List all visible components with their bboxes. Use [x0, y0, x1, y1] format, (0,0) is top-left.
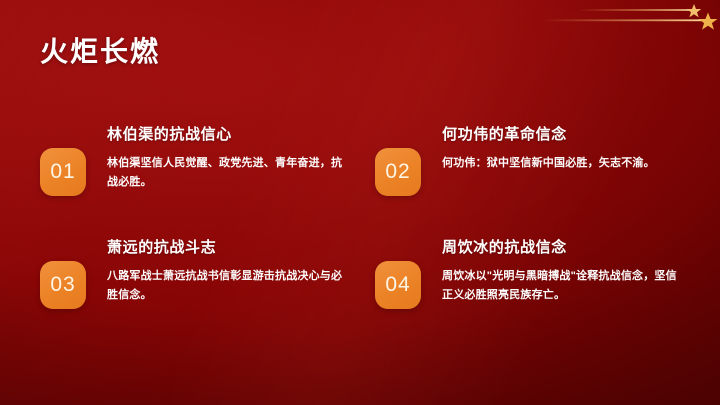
item-number-badge: 03: [40, 261, 86, 309]
item-description: 林伯渠坚信人民觉醒、政党先进、青年奋进，抗战必胜。: [107, 154, 351, 192]
item-text-block: 何功伟的革命信念 何功伟：狱中坚信新中国必胜，矢志不渝。: [442, 124, 686, 173]
item-description: 八路军战士萧远抗战书信彰显游击抗战决心与必胜信念。: [107, 267, 351, 305]
page-title: 火炬长燃: [40, 30, 160, 70]
list-item[interactable]: 04 周饮冰的抗战信念 周饮冰以"光明与黑暗搏战"诠释抗战信念，坚信正义必胜照亮…: [375, 237, 686, 317]
item-title: 周饮冰的抗战信念: [442, 238, 686, 258]
list-item[interactable]: 01 林伯渠的抗战信心 林伯渠坚信人民觉醒、政党先进、青年奋进，抗战必胜。: [40, 124, 351, 204]
items-grid: 01 林伯渠的抗战信心 林伯渠坚信人民觉醒、政党先进、青年奋进，抗战必胜。 02…: [40, 124, 686, 317]
item-number-badge: 04: [375, 261, 421, 309]
item-number-badge: 02: [375, 148, 421, 196]
item-text-block: 林伯渠的抗战信心 林伯渠坚信人民觉醒、政党先进、青年奋进，抗战必胜。: [107, 124, 351, 192]
list-item[interactable]: 03 萧远的抗战斗志 八路军战士萧远抗战书信彰显游击抗战决心与必胜信念。: [40, 237, 351, 317]
item-description: 何功伟：狱中坚信新中国必胜，矢志不渝。: [442, 154, 686, 173]
item-title: 林伯渠的抗战信心: [107, 125, 351, 145]
list-item[interactable]: 02 何功伟的革命信念 何功伟：狱中坚信新中国必胜，矢志不渝。: [375, 124, 686, 204]
item-number-badge: 01: [40, 148, 86, 196]
item-title: 萧远的抗战斗志: [107, 238, 351, 258]
presentation-slide: 火炬长燃 01 林伯渠的抗战信心 林伯渠坚信人民觉醒、政党先进、青年奋进，抗战必…: [0, 0, 720, 405]
item-description: 周饮冰以"光明与黑暗搏战"诠释抗战信念，坚信正义必胜照亮民族存亡。: [442, 267, 686, 305]
item-text-block: 萧远的抗战斗志 八路军战士萧远抗战书信彰显游击抗战决心与必胜信念。: [107, 237, 351, 305]
item-text-block: 周饮冰的抗战信念 周饮冰以"光明与黑暗搏战"诠释抗战信念，坚信正义必胜照亮民族存…: [442, 237, 686, 305]
item-title: 何功伟的革命信念: [442, 125, 686, 145]
